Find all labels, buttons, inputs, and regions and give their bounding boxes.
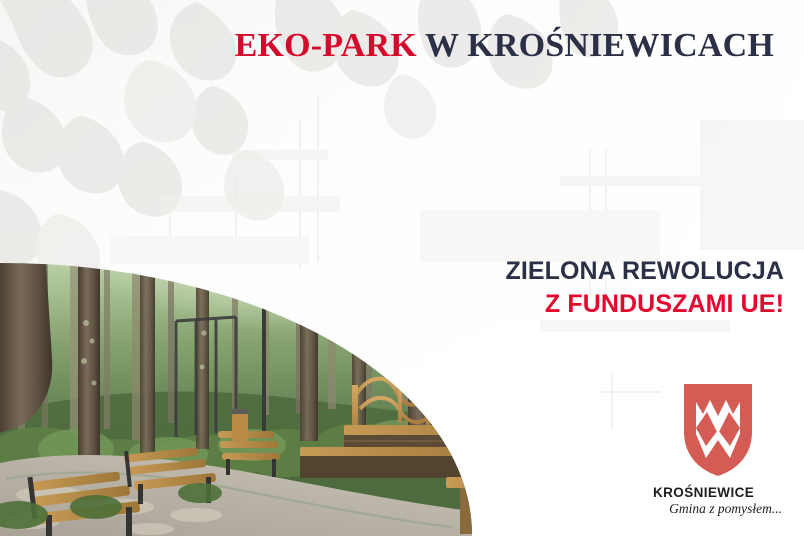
krosniewice-logo: KROŚNIEWICE Gmina z pomysłem... bbox=[648, 382, 788, 517]
poster-canvas: EKO-PARK W KROŚNIEWICACH ZIELONA REWOLUC… bbox=[0, 0, 804, 536]
subtitle-line-1: ZIELONA REWOLUCJA bbox=[505, 255, 784, 288]
logo-municipality-name: KROŚNIEWICE bbox=[648, 485, 788, 500]
page-title-accent: EKO-PARK bbox=[235, 27, 417, 64]
subtitle-block: ZIELONA REWOLUCJA Z FUNDUSZAMI UE! bbox=[505, 255, 784, 321]
subtitle-line-2: Z FUNDUSZAMI UE! bbox=[505, 288, 784, 321]
page-title-main: W KROŚNIEWICACH bbox=[425, 27, 774, 64]
logo-tagline: Gmina z pomysłem... bbox=[648, 501, 788, 517]
page-title: EKO-PARK W KROŚNIEWICACH bbox=[0, 28, 774, 64]
krosniewice-coat-of-arms-icon bbox=[648, 382, 788, 478]
